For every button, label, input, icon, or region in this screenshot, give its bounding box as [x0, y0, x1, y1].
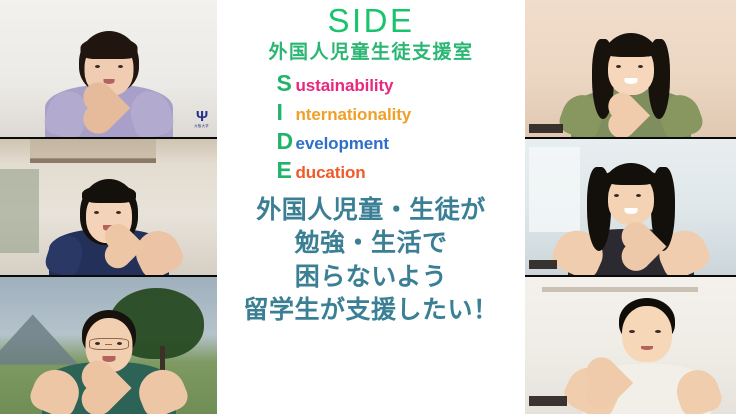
acronym-row-sustainability: Sustainability — [277, 72, 474, 95]
participant-mouth — [624, 78, 637, 84]
participant-figure — [31, 310, 187, 414]
right-video-column — [525, 0, 736, 414]
acronym-list: Sustainability Internationality Developm… — [269, 72, 474, 182]
acronym-word-development: evelopment — [296, 134, 389, 153]
name-label-bar — [529, 396, 567, 406]
participant-head — [622, 306, 672, 362]
acronym-word-education: ducation — [296, 163, 366, 182]
mission-message-line-2: 勉強・生活で — [217, 226, 525, 260]
acronym-capital-s: S — [277, 72, 296, 95]
acronym-capital-i: I — [277, 101, 296, 124]
participant-figure — [39, 29, 179, 137]
video-tile-right-middle[interactable] — [525, 139, 736, 276]
video-tile-right-top[interactable] — [525, 0, 736, 137]
participant-eye-right — [118, 65, 123, 68]
side-info-panel: SIDE 外国人児童生徒支援室 Sustainability Internati… — [217, 0, 525, 414]
acronym-capital-d: D — [277, 130, 296, 153]
mission-message-line-3: 困らないよう — [217, 260, 525, 294]
acronym-capital-e: E — [277, 159, 296, 182]
participant-eye-left — [629, 330, 635, 333]
background-shelf — [542, 287, 698, 292]
left-video-column: Ψ 大阪大学 — [0, 0, 217, 414]
participant-eye-right — [117, 342, 122, 345]
participant-figure — [34, 179, 184, 275]
acronym-word-internationality: nternationality — [296, 105, 412, 124]
acronym-row-education: Education — [277, 159, 474, 182]
participant-eye-left — [614, 194, 619, 197]
participant-fringe — [80, 37, 137, 59]
side-logo-title: SIDE — [217, 4, 525, 39]
participant-eye-right — [655, 330, 661, 333]
participant-mouth — [624, 208, 637, 214]
university-logo-text: 大阪大学 — [194, 125, 209, 128]
participant-eye-right — [116, 211, 121, 214]
video-tile-right-bottom[interactable] — [525, 277, 736, 414]
participant-fringe — [82, 185, 136, 203]
participant-figure — [567, 298, 727, 414]
side-subtitle-japanese: 外国人児童生徒支援室 — [217, 42, 525, 63]
mission-message-line-1: 外国人児童・生徒が — [217, 193, 525, 227]
name-label-bar — [529, 124, 563, 133]
participant-eye-right — [636, 194, 641, 197]
participant-figure — [553, 163, 709, 275]
participant-eye-right — [638, 65, 643, 68]
participant-fringe — [604, 169, 658, 185]
acronym-row-development: Development — [277, 130, 474, 153]
university-logo-mark: Ψ — [194, 109, 209, 124]
acronym-row-internationality: Internationality — [277, 101, 474, 124]
video-tile-left-bottom[interactable] — [0, 277, 217, 414]
name-label-bar — [529, 260, 557, 269]
participant-eye-left — [94, 211, 99, 214]
acronym-word-sustainability: ustainability — [296, 76, 394, 95]
participant-figure — [556, 31, 706, 137]
participant-eye-left — [616, 65, 621, 68]
participant-mouth — [641, 346, 653, 350]
participant-eye-left — [95, 65, 100, 68]
video-tile-left-top[interactable]: Ψ 大阪大学 — [0, 0, 217, 137]
video-tile-left-middle[interactable] — [0, 139, 217, 276]
mission-message-line-4: 留学生が支援したい！ — [217, 293, 525, 327]
participant-eye-left — [95, 342, 100, 345]
participant-fringe — [604, 39, 658, 57]
mission-message: 外国人児童・生徒が 勉強・生活で 困らないよう 留学生が支援したい！ — [217, 193, 525, 327]
university-logo-watermark: Ψ 大阪大学 — [194, 109, 209, 128]
video-call-grid: Ψ 大阪大学 — [0, 0, 736, 414]
room-wall-panel — [30, 139, 156, 160]
